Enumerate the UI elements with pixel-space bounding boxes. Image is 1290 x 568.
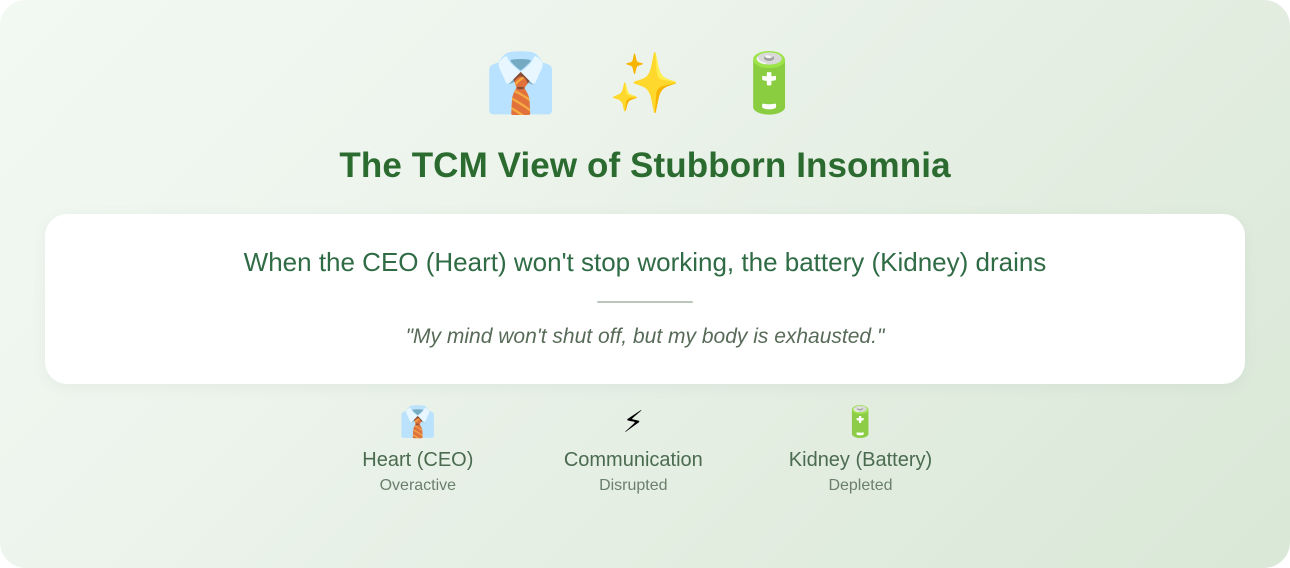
battery-icon: 🔋 (842, 408, 879, 438)
trio-item-kidney: 🔋 Kidney (Battery) Depleted (789, 408, 932, 495)
trio-sublabel: Disrupted (599, 476, 667, 495)
battery-icon: 🔋 (733, 55, 805, 113)
trio-label: Heart (CEO) (362, 448, 473, 472)
trio-label: Kidney (Battery) (789, 448, 932, 472)
page-title: The TCM View of Stubborn Insomnia (339, 146, 950, 186)
summary-trio: 👔 Heart (CEO) Overactive ⚡ Communication… (358, 408, 932, 495)
card-lead-text: When the CEO (Heart) won't stop working,… (85, 246, 1205, 279)
trio-label: Communication (564, 448, 703, 472)
header-emoji-row: 👔 ✨ 🔋 (485, 44, 806, 124)
infographic-canvas: 👔 ✨ 🔋 The TCM View of Stubborn Insomnia … (0, 0, 1290, 568)
statement-card: When the CEO (Heart) won't stop working,… (45, 214, 1245, 384)
trio-sublabel: Overactive (380, 476, 456, 495)
necktie-icon: 👔 (485, 55, 557, 113)
card-divider (597, 301, 693, 303)
high-voltage-icon: ⚡ (623, 408, 644, 438)
necktie-icon: 👔 (399, 408, 436, 438)
card-quote-text: "My mind won't shut off, but my body is … (85, 323, 1205, 350)
trio-item-communication: ⚡ Communication Disrupted (564, 408, 703, 495)
sparkles-icon: ✨ (609, 55, 681, 113)
trio-sublabel: Depleted (828, 476, 892, 495)
trio-item-heart: 👔 Heart (CEO) Overactive (358, 408, 478, 495)
